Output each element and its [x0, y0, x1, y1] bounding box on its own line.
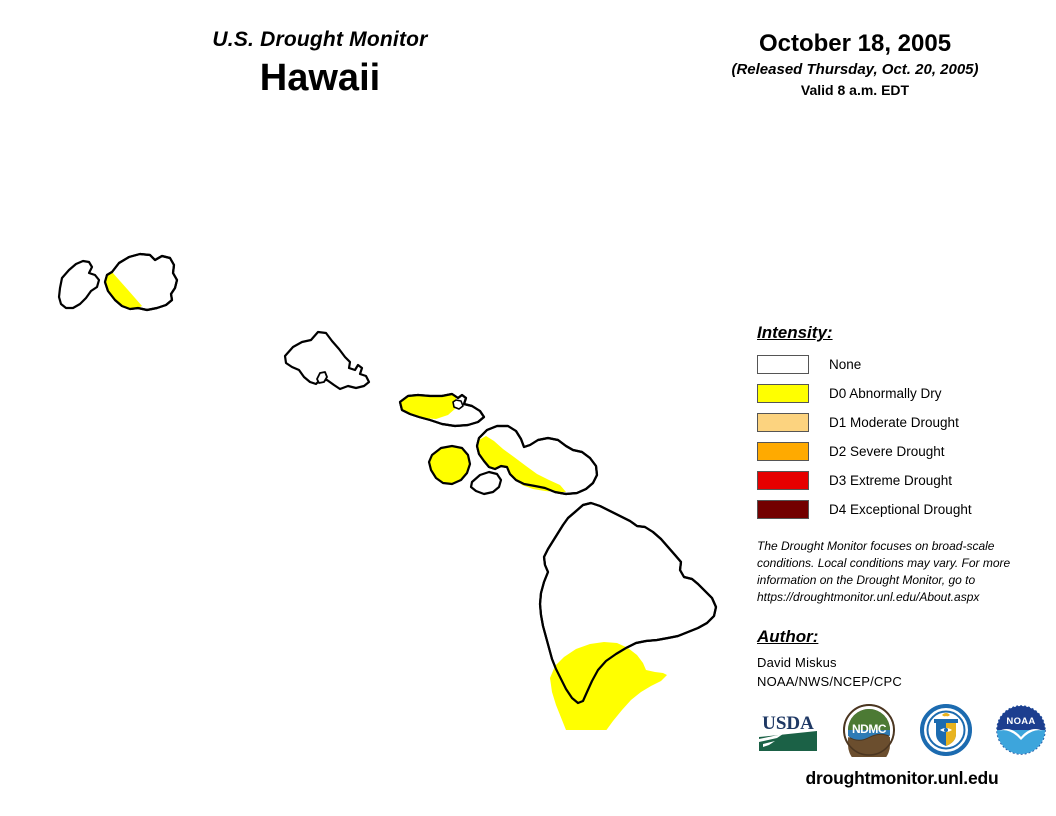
page-title: U.S. Drought Monitor: [0, 28, 640, 51]
hawaii-d0-area: [550, 642, 667, 730]
footer-url[interactable]: droughtmonitor.unl.edu: [757, 768, 1047, 789]
legend-label-d1: D1 Moderate Drought: [829, 415, 959, 430]
legend-label-d0: D0 Abnormally Dry: [829, 386, 942, 401]
island-lanai: [429, 446, 470, 484]
legend-swatch-d0: [757, 384, 809, 403]
disclaimer-line-1: The Drought Monitor focuses on broad-sca…: [757, 538, 1047, 555]
svg-text:NOAA: NOAA: [1006, 716, 1035, 727]
disclaimer-text: The Drought Monitor focuses on broad-sca…: [757, 538, 1047, 606]
valid-time: Valid 8 a.m. EDT: [680, 82, 1030, 99]
hawaii-drought-map: [0, 130, 740, 730]
island-oahu: [285, 332, 369, 389]
noaa-logo[interactable]: NOAA: [995, 704, 1047, 761]
legend-swatch-none: [757, 355, 809, 374]
legend-label-none: None: [829, 357, 861, 372]
author-title: Author:: [757, 627, 1047, 647]
disclaimer-link[interactable]: https://droughtmonitor.unl.edu/About.asp…: [757, 589, 1047, 606]
svg-text:USDA: USDA: [762, 713, 814, 734]
legend-label-d4: D4 Exceptional Drought: [829, 502, 972, 517]
nws-seal-logo[interactable]: [920, 704, 972, 761]
author-block: Author: David Miskus NOAA/NWS/NCEP/CPC: [757, 627, 1047, 692]
legend-item-d4: D4 Exceptional Drought: [757, 497, 1047, 521]
region-title: Hawaii: [0, 57, 640, 101]
legend-label-d3: D3 Extreme Drought: [829, 473, 952, 488]
legend-item-none: None: [757, 352, 1047, 376]
release-date: (Released Thursday, Oct. 20, 2005): [680, 61, 1030, 79]
legend-swatch-d3: [757, 471, 809, 490]
island-niihau: [59, 261, 99, 308]
legend-swatch-d4: [757, 500, 809, 519]
valid-date: October 18, 2005: [680, 30, 1030, 58]
island-kahoolawe: [471, 472, 501, 494]
date-block: October 18, 2005 (Released Thursday, Oct…: [680, 30, 1030, 98]
legend-item-d2: D2 Severe Drought: [757, 439, 1047, 463]
legend-item-d0: D0 Abnormally Dry: [757, 381, 1047, 405]
disclaimer-line-2: conditions. Local conditions may vary. F…: [757, 555, 1047, 572]
svg-text:NDMC: NDMC: [852, 722, 887, 736]
molokai-inner-detail: [453, 400, 463, 409]
legend-label-d2: D2 Severe Drought: [829, 444, 945, 459]
disclaimer-line-3: information on the Drought Monitor, go t…: [757, 572, 1047, 589]
legend-item-d3: D3 Extreme Drought: [757, 468, 1047, 492]
legend: Intensity: None D0 Abnormally Dry D1 Mod…: [757, 323, 1047, 526]
legend-swatch-d2: [757, 442, 809, 461]
author-name: David Miskus: [757, 654, 1047, 673]
title-block: U.S. Drought Monitor Hawaii: [0, 28, 640, 101]
usda-logo[interactable]: USDA: [757, 707, 819, 758]
logo-strip: USDA NDMC: [757, 703, 1047, 761]
legend-swatch-d1: [757, 413, 809, 432]
ndmc-logo[interactable]: NDMC: [842, 703, 896, 762]
legend-item-d1: D1 Moderate Drought: [757, 410, 1047, 434]
legend-title: Intensity:: [757, 323, 1047, 343]
author-affiliation: NOAA/NWS/NCEP/CPC: [757, 673, 1047, 692]
